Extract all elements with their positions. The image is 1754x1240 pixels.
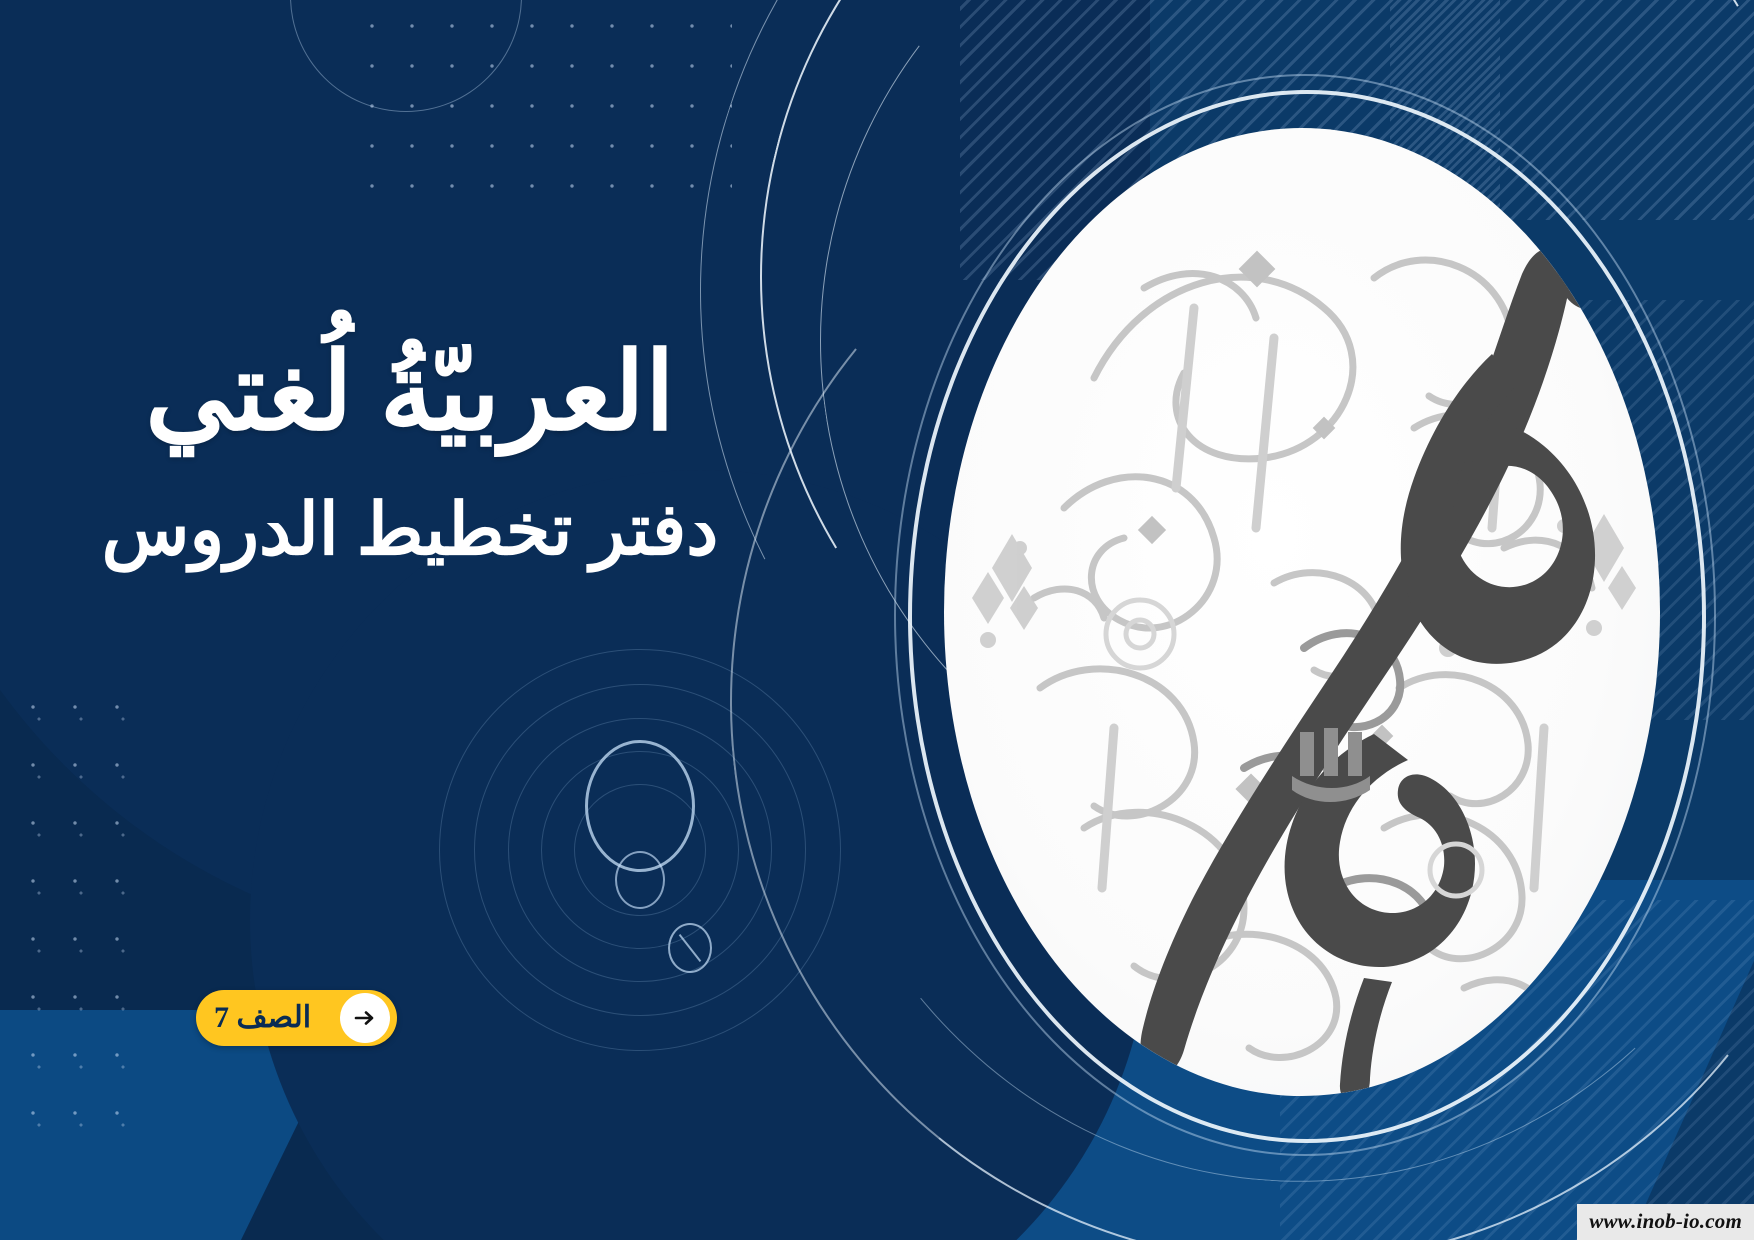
ring-highlight-small	[615, 851, 665, 909]
page-subtitle: دفتر تخطيط الدروس	[40, 485, 780, 575]
concentric-rings-decoration	[430, 640, 850, 1060]
calligraphy-medallion	[900, 70, 1710, 1160]
watermark: www.inob-io.com	[1577, 1204, 1754, 1240]
grade-badge-label: الصف 7	[196, 990, 337, 1046]
page-title: العربيّةُ لُغتي	[40, 330, 780, 457]
slide-text-block: العربيّةُ لُغتي دفتر تخطيط الدروس	[40, 330, 780, 575]
arabic-calligraphy-artwork	[944, 128, 1660, 1096]
medallion-disc	[944, 128, 1660, 1096]
grade-badge[interactable]: الصف 7	[196, 990, 397, 1046]
arrow-right-icon[interactable]	[340, 993, 390, 1043]
presentation-slide: العربيّةُ لُغتي دفتر تخطيط الدروس الصف 7…	[0, 0, 1754, 1240]
